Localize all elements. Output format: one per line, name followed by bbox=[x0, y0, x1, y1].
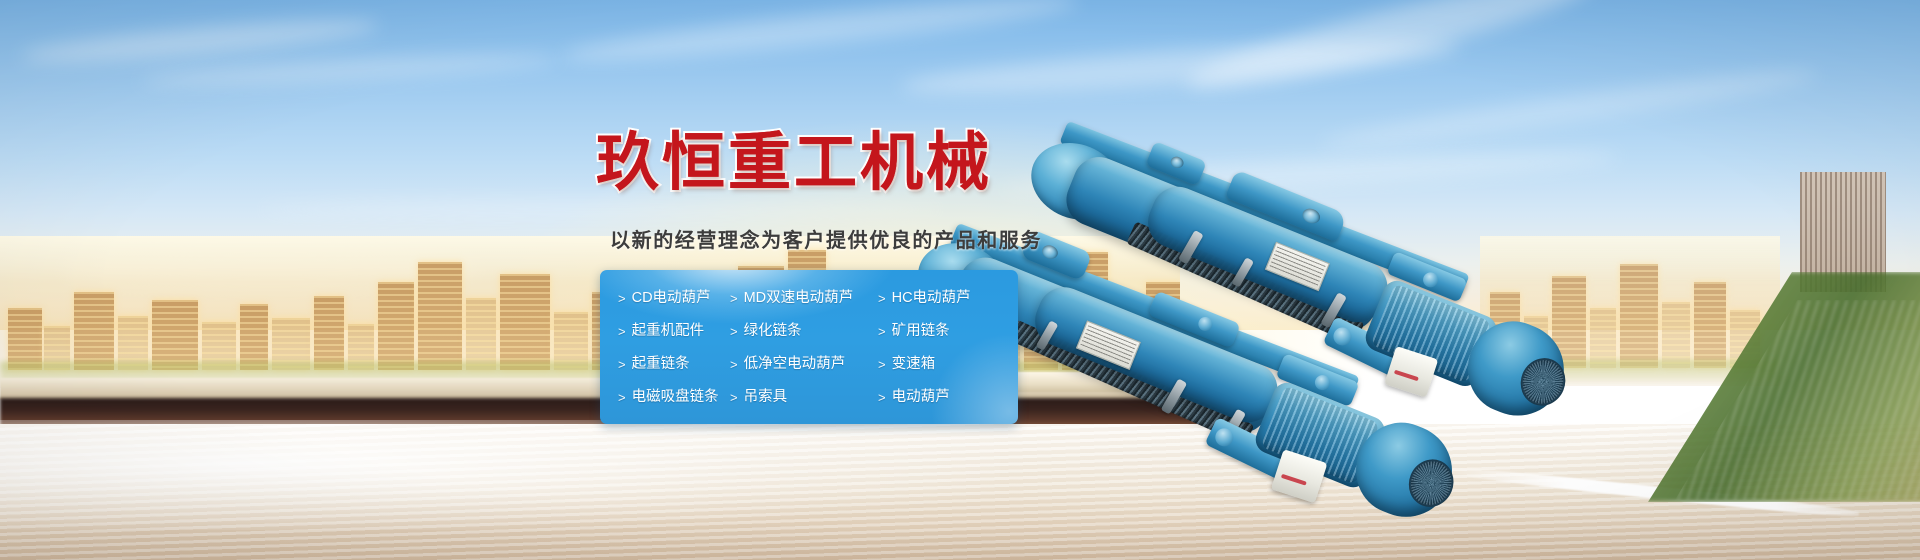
chevron-right-icon: > bbox=[618, 358, 626, 371]
product-link-label: 低净空电动葫芦 bbox=[744, 357, 846, 372]
chevron-right-icon: > bbox=[878, 358, 886, 371]
product-link-label: MD双速电动葫芦 bbox=[744, 291, 854, 306]
product-link-low-headroom-hoist[interactable]: > 低净空电动葫芦 bbox=[730, 357, 878, 372]
product-link-label: 起重机配件 bbox=[632, 324, 705, 339]
product-link-mining-chain[interactable]: > 矿用链条 bbox=[878, 324, 1010, 339]
road-highlight bbox=[0, 420, 1000, 530]
product-link-label: 绿化链条 bbox=[744, 324, 802, 339]
product-link-gearbox[interactable]: > 变速箱 bbox=[878, 357, 1010, 372]
chevron-right-icon: > bbox=[618, 325, 626, 338]
chevron-right-icon: > bbox=[618, 292, 626, 305]
product-link-electric-hoist[interactable]: > 电动葫芦 bbox=[878, 390, 1010, 405]
product-link-magnetic-chuck-chain[interactable]: > 电磁吸盘链条 bbox=[618, 390, 730, 405]
chevron-right-icon: > bbox=[618, 391, 626, 404]
hero-banner: 玖恒重工机械 玖恒重工机械 以新的经营理念为客户提供优良的产品和服务 > CD电… bbox=[0, 0, 1920, 560]
product-link-label: CD电动葫芦 bbox=[632, 291, 711, 306]
product-link-label: 电动葫芦 bbox=[892, 390, 950, 405]
chevron-right-icon: > bbox=[878, 292, 886, 305]
product-link-crane-parts[interactable]: > 起重机配件 bbox=[618, 324, 730, 339]
chevron-right-icon: > bbox=[878, 391, 886, 404]
product-links-panel: > CD电动葫芦 > MD双速电动葫芦 > HC电动葫芦 > 起重机配件 > 绿… bbox=[600, 270, 1018, 424]
product-link-cd-hoist[interactable]: > CD电动葫芦 bbox=[618, 291, 730, 306]
chevron-right-icon: > bbox=[730, 358, 738, 371]
cloud-wisp bbox=[140, 49, 560, 91]
product-link-greening-chain[interactable]: > 绿化链条 bbox=[730, 324, 878, 339]
product-link-label: 矿用链条 bbox=[892, 324, 950, 339]
page-subtitle: 以新的经营理念为客户提供优良的产品和服务 bbox=[610, 224, 1042, 253]
product-link-slings[interactable]: > 吊索具 bbox=[730, 390, 878, 405]
page-title: 玖恒重工机械 bbox=[596, 112, 992, 203]
chevron-right-icon: > bbox=[730, 292, 738, 305]
product-link-label: 变速箱 bbox=[892, 357, 936, 372]
product-link-hc-hoist[interactable]: > HC电动葫芦 bbox=[878, 291, 1010, 306]
product-link-label: 电磁吸盘链条 bbox=[632, 390, 719, 405]
product-link-md-dual-speed-hoist[interactable]: > MD双速电动葫芦 bbox=[730, 291, 878, 306]
product-link-label: HC电动葫芦 bbox=[892, 291, 971, 306]
product-link-label: 吊索具 bbox=[744, 390, 788, 405]
product-links-grid: > CD电动葫芦 > MD双速电动葫芦 > HC电动葫芦 > 起重机配件 > 绿… bbox=[618, 282, 1010, 414]
chevron-right-icon: > bbox=[878, 325, 886, 338]
chevron-right-icon: > bbox=[730, 325, 738, 338]
chevron-right-icon: > bbox=[730, 391, 738, 404]
product-link-label: 起重链条 bbox=[632, 357, 690, 372]
product-link-lifting-chain[interactable]: > 起重链条 bbox=[618, 357, 730, 372]
